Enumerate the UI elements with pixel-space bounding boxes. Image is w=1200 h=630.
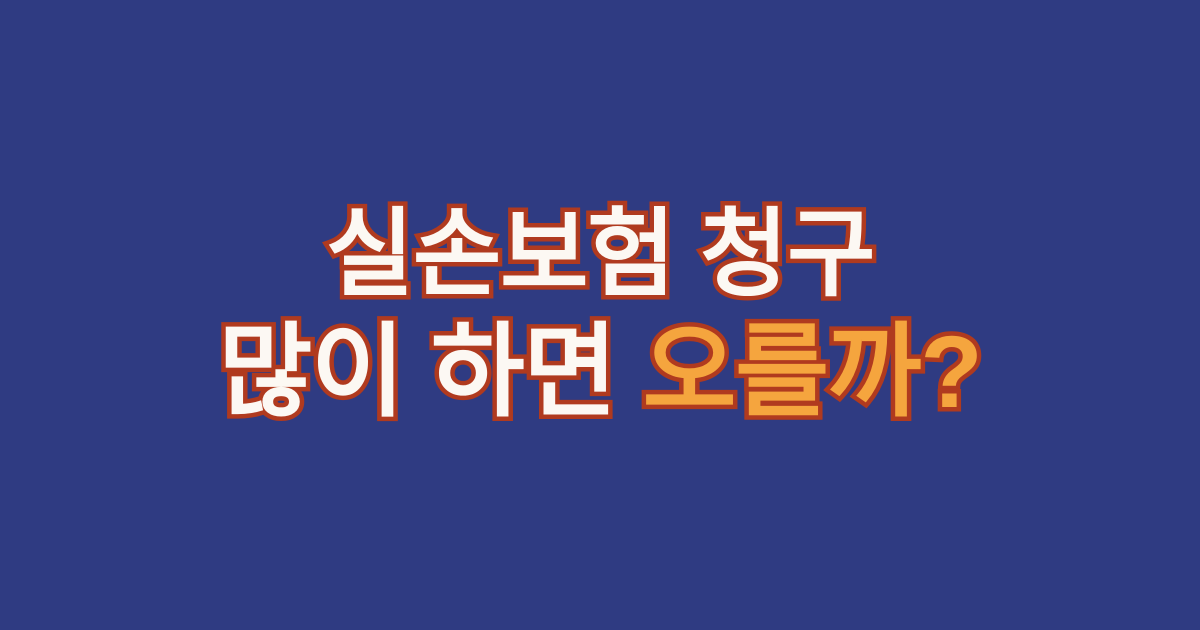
headline-line-1-text: 실손보험 청구 xyxy=(326,207,875,303)
headline-line-1: 실손보험 청구 xyxy=(326,207,875,303)
headline-line-2-highlight-segment: 오를까? xyxy=(643,321,982,423)
headline-block: 실손보험 청구 많이 하면오를까? xyxy=(0,207,1200,423)
headline-line-2: 많이 하면오를까? xyxy=(218,321,981,423)
thumbnail-card: 실손보험 청구 많이 하면오를까? xyxy=(0,0,1200,630)
headline-line-2-plain-segment: 많이 하면 xyxy=(218,321,616,423)
